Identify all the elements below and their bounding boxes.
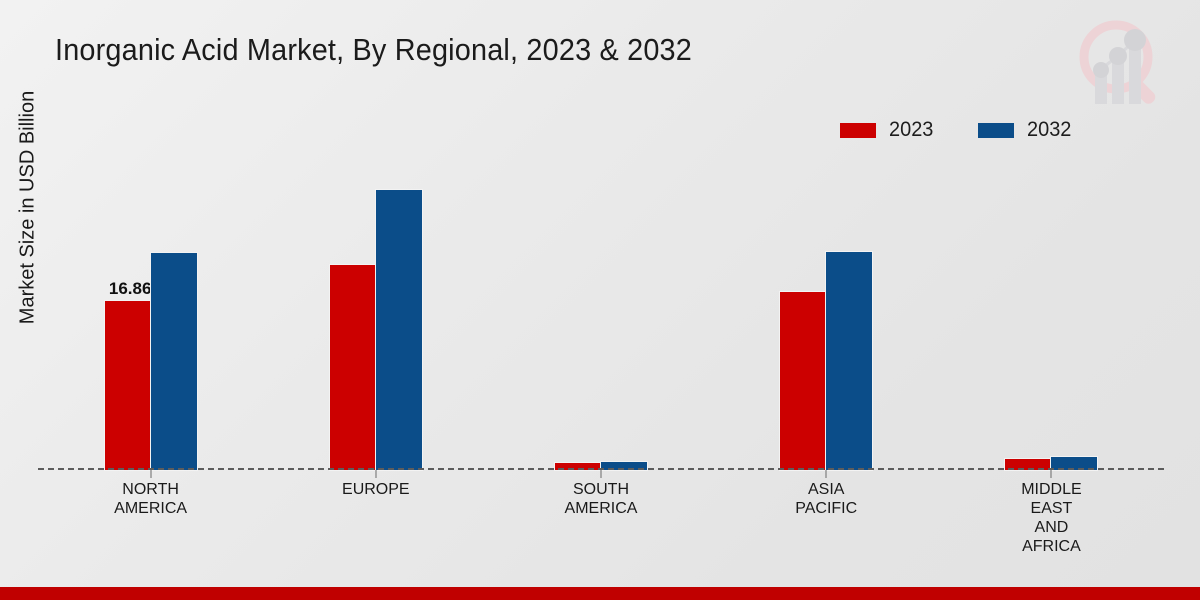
axis-tick [1051, 470, 1052, 478]
bar-2023[interactable] [330, 265, 376, 470]
bar-group [714, 150, 939, 470]
bar-value-label: 16.86 [109, 279, 152, 299]
category-label: ASIA PACIFIC [714, 480, 939, 556]
bar-pair [780, 150, 872, 470]
bar-pair [555, 150, 647, 470]
bar-2032[interactable] [826, 252, 872, 470]
bar-pair [330, 150, 422, 470]
bar-2023[interactable] [780, 292, 826, 470]
plot-area: 16.86 NORTH AMERICAEUROPESOUTH AMERICAAS… [0, 0, 1200, 600]
category-labels: NORTH AMERICAEUROPESOUTH AMERICAASIA PAC… [38, 480, 1164, 556]
x-axis-baseline [38, 468, 1164, 470]
bar-group [939, 150, 1164, 470]
bar-pair [1005, 150, 1097, 470]
category-label: NORTH AMERICA [38, 480, 263, 556]
bar-2032[interactable] [151, 253, 197, 470]
bar-group: 16.86 [38, 150, 263, 470]
axis-tick [826, 470, 827, 478]
bar-group [488, 150, 713, 470]
category-label: SOUTH AMERICA [488, 480, 713, 556]
bar-2032[interactable] [376, 190, 422, 470]
bar-2023[interactable]: 16.86 [105, 301, 151, 470]
chart-canvas: Inorganic Acid Market, By Regional, 2023… [0, 0, 1200, 600]
axis-tick [150, 470, 151, 478]
bar-pair: 16.86 [105, 150, 197, 470]
category-label: MIDDLE EAST AND AFRICA [939, 480, 1164, 556]
bar-group [263, 150, 488, 470]
bar-groups: 16.86 [38, 150, 1164, 470]
axis-tick [375, 470, 376, 478]
category-label: EUROPE [263, 480, 488, 556]
axis-tick [601, 470, 602, 478]
footer-strip [0, 587, 1200, 600]
